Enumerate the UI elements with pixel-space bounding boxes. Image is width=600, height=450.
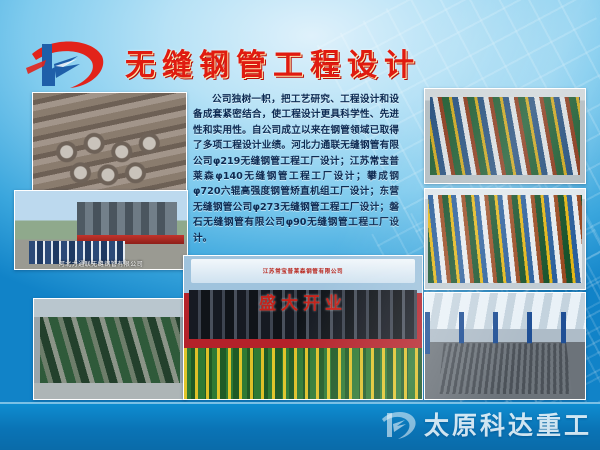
photo-opening-ceremony: 江苏常宝普莱森钢管有限公司 盛大开业: [183, 255, 423, 400]
flower-arrangement: [184, 348, 422, 399]
shop-floor: [34, 383, 186, 399]
ceremony-red-characters: 盛大开业: [232, 285, 375, 319]
brochure-page: 无缝钢管工程设计 公司独树一帜，把工艺研究、工程设计和设备成套紧密结合，使工程设…: [0, 0, 600, 450]
photo-pipe-mill-line: [33, 298, 187, 400]
ceremony-banner-text: 江苏常宝普莱森钢管有限公司: [191, 260, 415, 283]
photo-factory-entrance: 河北力通联无缝钢管有限公司: [14, 190, 188, 270]
watermark: 太原科达重工: [378, 402, 592, 446]
mill-machinery: [40, 317, 180, 387]
photo-green-machines: [424, 88, 586, 184]
photo-caption: 河北力通联无缝钢管有限公司: [15, 258, 187, 269]
kd-swoosh-logo-icon: [22, 34, 108, 92]
page-title: 无缝钢管工程设计: [125, 46, 505, 86]
watermark-text: 太原科达重工: [424, 406, 592, 442]
cooling-bed: [438, 343, 572, 394]
kd-watermark-logo-icon: [378, 407, 418, 441]
assembly-lines: [428, 195, 582, 283]
photo-cooling-bed-hall: [424, 292, 586, 400]
machinery-lines: [430, 97, 580, 176]
description-paragraph: 公司独树一帜，把工艺研究、工程设计和设备成套紧密结合，使工程设计更具科学性、先进…: [193, 92, 399, 246]
photo-steel-pipes: [32, 92, 187, 199]
photo-assembly-floor: [424, 188, 586, 290]
